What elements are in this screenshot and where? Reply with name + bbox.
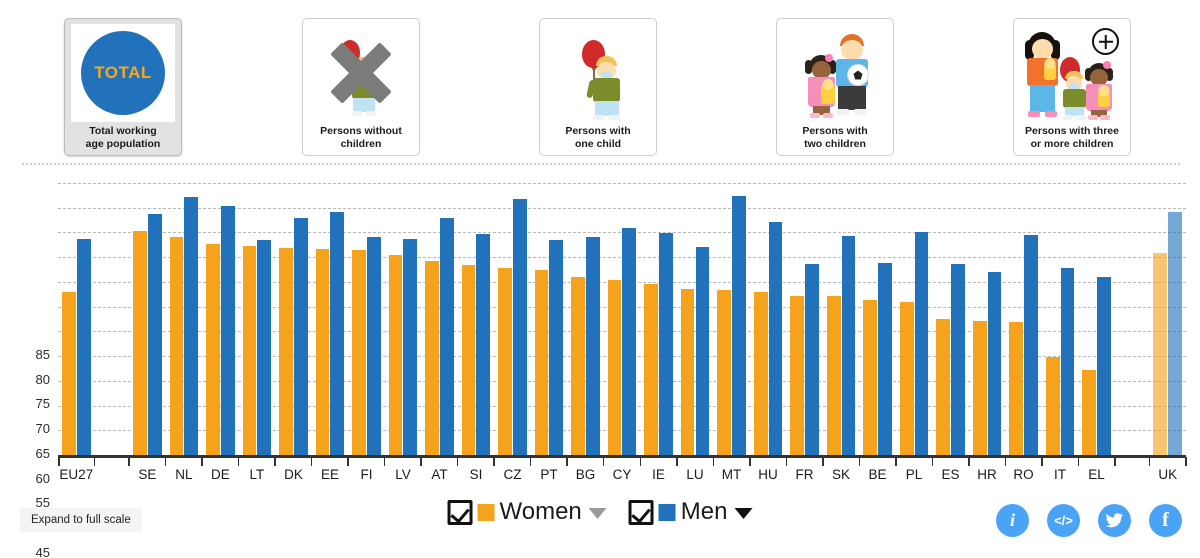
category-card-strip: TOTAL Total working age population — [0, 0, 1200, 166]
bar-women-mt[interactable] — [717, 290, 731, 455]
x-axis-label-el: EL — [1088, 467, 1105, 482]
card-label: Total working age population — [65, 122, 181, 155]
x-axis-tick — [1005, 457, 1007, 466]
legend-swatch-women — [478, 504, 495, 521]
bar-group-ie — [640, 183, 677, 455]
bar-men-sk[interactable] — [842, 236, 856, 455]
bar-men-eu27[interactable] — [77, 239, 91, 455]
plot-area — [58, 183, 1186, 455]
chevron-down-icon[interactable] — [734, 508, 752, 519]
x-axis-label-uk: UK — [1158, 467, 1177, 482]
bar-group-si — [458, 183, 495, 455]
x-axis-tick — [676, 457, 678, 466]
bar-women-it[interactable] — [1046, 357, 1060, 455]
bar-men-si[interactable] — [476, 234, 490, 455]
bar-women-cy[interactable] — [608, 280, 622, 455]
x-axis-tick — [1078, 457, 1080, 466]
x-axis-tick — [749, 457, 751, 466]
x-axis-label-es: ES — [942, 467, 960, 482]
bar-men-lt[interactable] — [257, 240, 271, 455]
legend-item-men[interactable]: Men — [629, 498, 753, 526]
info-icon[interactable]: i — [996, 504, 1029, 537]
x-axis-label-fr: FR — [796, 467, 814, 482]
x-axis-tick — [530, 457, 532, 466]
x-axis-tick — [128, 457, 130, 466]
bar-women-es[interactable] — [936, 319, 950, 455]
x-axis-label-nl: NL — [175, 467, 192, 482]
card-persons-with-three-or-more-children[interactable]: Persons with three or more children — [1013, 18, 1131, 156]
card-label: Persons with three or more children — [1014, 122, 1130, 155]
x-axis-tick — [238, 457, 240, 466]
bar-chart: EU27SENLDELTDKEEFILVATSICZPTBGCYIELUMTHU… — [0, 172, 1200, 472]
x-axis-label-bg: BG — [576, 467, 596, 482]
facebook-icon[interactable]: f — [1149, 504, 1182, 537]
bar-women-cz[interactable] — [498, 268, 512, 455]
x-axis-tick — [384, 457, 386, 466]
bar-women-el[interactable] — [1082, 370, 1096, 455]
bar-women-dk[interactable] — [279, 248, 293, 455]
x-axis-label-it: IT — [1054, 467, 1066, 482]
bar-men-ro[interactable] — [1024, 235, 1038, 455]
x-axis-tick — [94, 457, 96, 466]
bar-men-fi[interactable] — [367, 237, 381, 455]
bar-men-at[interactable] — [440, 218, 454, 455]
x-axis-tick — [640, 457, 642, 466]
bar-men-lu[interactable] — [696, 247, 710, 455]
x-axis-label-fi: FI — [360, 467, 372, 482]
x-axis-tick — [822, 457, 824, 466]
chart-legend: Women Men — [448, 498, 753, 526]
y-axis-tick-label: 85 — [8, 347, 50, 362]
bar-women-ee[interactable] — [316, 249, 330, 455]
x-axis-label-hu: HU — [758, 467, 778, 482]
bar-group-pl — [896, 183, 933, 455]
bar-group-cy — [604, 183, 641, 455]
chart-footer: Expand to full scale Women Men i </> f — [0, 490, 1200, 558]
bar-women-lt[interactable] — [243, 246, 257, 455]
bar-men-es[interactable] — [951, 264, 965, 455]
y-axis-tick-label: 75 — [8, 396, 50, 411]
bar-group-ee — [312, 183, 349, 455]
bar-group-hr — [969, 183, 1006, 455]
x-axis-labels: EU27SENLDELTDKEEFILVATSICZPTBGCYIELUMTHU… — [58, 467, 1186, 487]
bar-women-ie[interactable] — [644, 284, 658, 455]
bar-group-lt — [239, 183, 276, 455]
x-axis-tick — [457, 457, 459, 466]
x-axis-label-ee: EE — [321, 467, 339, 482]
cross-out-mark — [325, 37, 397, 109]
x-axis-tick — [274, 457, 276, 466]
bar-group-nl — [166, 183, 203, 455]
x-axis-tick — [713, 457, 715, 466]
bar-group-sk — [823, 183, 860, 455]
bar-men-cy[interactable] — [622, 228, 636, 455]
x-axis-tick — [201, 457, 203, 466]
bar-men-pl[interactable] — [915, 232, 929, 455]
x-axis-label-hr: HR — [977, 467, 997, 482]
card-label: Persons without children — [303, 122, 419, 155]
x-axis-label-sk: SK — [832, 467, 850, 482]
x-axis-label-be: BE — [869, 467, 887, 482]
bar-women-at[interactable] — [425, 261, 439, 455]
bar-group-es — [932, 183, 969, 455]
x-axis-tick — [1149, 457, 1151, 466]
x-axis-label-ro: RO — [1013, 467, 1033, 482]
x-axis-label-at: AT — [431, 467, 447, 482]
bar-group-de — [202, 183, 239, 455]
bar-women-fi[interactable] — [352, 250, 366, 455]
bar-group-uk — [1149, 183, 1186, 455]
section-divider — [22, 163, 1180, 165]
bar-men-uk[interactable] — [1168, 212, 1182, 455]
bar-men-el[interactable] — [1097, 277, 1111, 455]
x-axis-ticks — [58, 457, 1186, 467]
x-axis-label-dk: DK — [284, 467, 303, 482]
bar-men-lv[interactable] — [403, 239, 417, 455]
bar-women-fr[interactable] — [790, 296, 804, 455]
bar-group-bg — [567, 183, 604, 455]
x-axis-label-se: SE — [138, 467, 156, 482]
bar-men-hr[interactable] — [988, 272, 1002, 455]
x-axis-label-ie: IE — [652, 467, 665, 482]
x-axis-tick — [1185, 457, 1187, 466]
legend-checkbox-women[interactable] — [448, 500, 473, 525]
bar-women-eu27[interactable] — [62, 292, 76, 455]
bar-men-cz[interactable] — [513, 199, 527, 455]
x-axis-tick — [58, 457, 60, 466]
bar-men-ie[interactable] — [659, 233, 673, 455]
bar-women-hr[interactable] — [973, 321, 987, 455]
bar-women-pl[interactable] — [900, 302, 914, 455]
bar-men-bg[interactable] — [586, 237, 600, 455]
legend-label-women: Women — [500, 498, 582, 526]
bar-women-hu[interactable] — [754, 292, 768, 455]
y-axis-tick-label: 60 — [8, 471, 50, 486]
social-buttons: i </> f — [996, 504, 1182, 537]
bar-group-at — [421, 183, 458, 455]
chart-page: TOTAL Total working age population — [0, 0, 1200, 558]
chevron-down-icon[interactable] — [589, 508, 607, 519]
bar-women-lu[interactable] — [681, 289, 695, 455]
legend-label-men: Men — [681, 498, 728, 526]
x-axis-tick — [566, 457, 568, 466]
bar-women-de[interactable] — [206, 244, 220, 455]
plus-icon — [1092, 28, 1119, 55]
bar-men-pt[interactable] — [549, 240, 563, 455]
x-axis-tick — [493, 457, 495, 466]
bar-group-it — [1042, 183, 1079, 455]
bar-series-container — [58, 183, 1186, 455]
bar-men-it[interactable] — [1061, 268, 1075, 455]
card-persons-with-one-child[interactable]: Persons with one child — [539, 18, 657, 156]
bar-group-pt — [531, 183, 568, 455]
y-axis-tick-label: 80 — [8, 372, 50, 387]
expand-to-full-scale-button[interactable]: Expand to full scale — [20, 508, 142, 532]
bar-group-ro — [1005, 183, 1042, 455]
bar-men-dk[interactable] — [294, 218, 308, 455]
y-axis-tick-label: 70 — [8, 421, 50, 436]
x-axis-label-cy: CY — [613, 467, 632, 482]
bar-men-se[interactable] — [148, 214, 162, 455]
bar-men-fr[interactable] — [805, 264, 819, 455]
bar-group-mt — [713, 183, 750, 455]
x-axis-tick — [347, 457, 349, 466]
x-axis-tick — [1114, 457, 1116, 466]
bar-women-uk[interactable] — [1153, 253, 1167, 455]
embed-code-icon[interactable]: </> — [1047, 504, 1080, 537]
bar-men-mt[interactable] — [732, 196, 746, 455]
bar-men-hu[interactable] — [769, 222, 783, 455]
child-crossed-out-icon — [309, 24, 413, 122]
card-persons-without-children[interactable]: Persons without children — [302, 18, 420, 156]
bar-group-lv — [385, 183, 422, 455]
bar-group-be — [859, 183, 896, 455]
legend-item-women[interactable]: Women — [448, 498, 607, 526]
x-axis-label-lv: LV — [395, 467, 411, 482]
bar-women-be[interactable] — [863, 300, 877, 455]
total-circle-icon: TOTAL — [71, 24, 175, 122]
x-axis-label-pl: PL — [906, 467, 923, 482]
bar-group-el — [1078, 183, 1115, 455]
x-axis-tick — [311, 457, 313, 466]
x-axis-tick — [1041, 457, 1043, 466]
bar-group-fi — [348, 183, 385, 455]
x-axis-label-cz: CZ — [503, 467, 521, 482]
x-axis-tick — [420, 457, 422, 466]
x-axis-label-de: DE — [211, 467, 230, 482]
legend-checkbox-men[interactable] — [629, 500, 654, 525]
bar-women-bg[interactable] — [571, 277, 585, 455]
bar-women-ro[interactable] — [1009, 322, 1023, 455]
bar-women-si[interactable] — [462, 265, 476, 455]
bar-men-de[interactable] — [221, 206, 235, 455]
card-label: Persons with one child — [540, 122, 656, 155]
card-label: Persons with two children — [777, 122, 893, 155]
x-axis-tick — [859, 457, 861, 466]
card-total-working-age-population[interactable]: TOTAL Total working age population — [64, 18, 182, 156]
y-axis-tick-label: 65 — [8, 446, 50, 461]
bar-men-nl[interactable] — [184, 197, 198, 455]
bar-women-nl[interactable] — [170, 237, 184, 455]
total-circle-label: TOTAL — [81, 31, 165, 115]
bar-women-sk[interactable] — [827, 296, 841, 455]
bar-men-be[interactable] — [878, 263, 892, 455]
x-axis-label-pt: PT — [540, 467, 557, 482]
bar-women-pt[interactable] — [535, 270, 549, 455]
x-axis-label-lt: LT — [250, 467, 265, 482]
x-axis-tick — [786, 457, 788, 466]
x-axis-tick — [603, 457, 605, 466]
bar-women-se[interactable] — [133, 231, 147, 455]
bar-group-cz — [494, 183, 531, 455]
x-axis-tick — [165, 457, 167, 466]
card-persons-with-two-children[interactable]: Persons with two children — [776, 18, 894, 156]
bar-group-lu — [677, 183, 714, 455]
bar-women-lv[interactable] — [389, 255, 403, 455]
bar-men-ee[interactable] — [330, 212, 344, 455]
one-child-icon — [546, 24, 650, 122]
x-axis-label-eu27: EU27 — [59, 467, 93, 482]
x-axis-tick — [895, 457, 897, 466]
x-axis-tick — [932, 457, 934, 466]
bar-group-se — [129, 183, 166, 455]
x-axis-tick — [968, 457, 970, 466]
x-axis-label-mt: MT — [722, 467, 742, 482]
bar-group-fr — [786, 183, 823, 455]
bar-group-eu27 — [58, 183, 95, 455]
legend-swatch-men — [659, 504, 676, 521]
x-axis-label-si: SI — [470, 467, 483, 482]
bar-group-hu — [750, 183, 787, 455]
three-or-more-children-icon — [1020, 24, 1124, 122]
bar-group-dk — [275, 183, 312, 455]
two-children-icon — [783, 24, 887, 122]
twitter-icon[interactable] — [1098, 504, 1131, 537]
x-axis-label-lu: LU — [686, 467, 703, 482]
